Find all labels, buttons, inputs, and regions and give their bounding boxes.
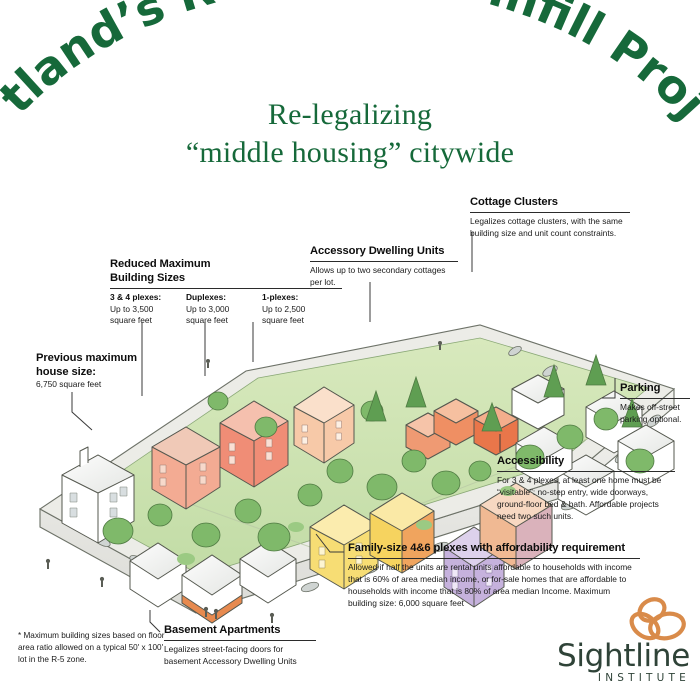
callout-accessory-dwelling-units: Accessory Dwelling Units Allows up to tw… xyxy=(310,245,458,289)
callout-adu-body: Allows up to two secondary cottages per … xyxy=(310,265,458,289)
callout-cottage-clusters-rule xyxy=(470,212,630,213)
callout-adu-rule xyxy=(310,261,458,262)
callout-basement-apartments: Basement Apartments Legalizes street-fac… xyxy=(164,624,316,668)
callout-accessibility-body: For 3 & 4 plexes, at least one home must… xyxy=(497,475,675,523)
callout-parking-rule xyxy=(620,398,690,399)
size-column-1plexes-title: 1-plexes: xyxy=(262,292,328,304)
callout-family-size-heading: Family-size 4&6 plexes with affordabilit… xyxy=(348,542,640,556)
size-column-plexes-line1: Up to 3,500 xyxy=(110,304,176,316)
size-column-duplexes-line1: Up to 3,000 xyxy=(186,304,252,316)
size-column-plexes-line2: square feet xyxy=(110,315,176,327)
callout-family-size-rule xyxy=(348,558,640,559)
size-column-1plexes: 1-plexes: Up to 2,500 square feet xyxy=(262,292,328,327)
size-column-1plexes-line1: Up to 2,500 xyxy=(262,304,328,316)
callout-adu-heading: Accessory Dwelling Units xyxy=(310,245,458,259)
callout-reduced-building-sizes: Reduced Maximum Building Sizes 3 & 4 ple… xyxy=(110,258,342,327)
callout-cottage-clusters-heading: Cottage Clusters xyxy=(470,196,630,210)
size-column-duplexes: Duplexes: Up to 3,000 square feet xyxy=(186,292,252,327)
footnote: * Maximum building sizes based on floor … xyxy=(18,630,166,666)
callout-parking-heading: Parking xyxy=(620,382,690,396)
callout-accessibility-heading: Accessibility xyxy=(497,455,675,469)
callout-basement-heading: Basement Apartments xyxy=(164,624,316,638)
callout-cottage-clusters: Cottage Clusters Legalizes cottage clust… xyxy=(470,196,630,240)
sightline-logo-subtext: INSTITUTE xyxy=(500,672,690,684)
size-column-plexes-title: 3 & 4 plexes: xyxy=(110,292,176,304)
size-column-plexes: 3 & 4 plexes: Up to 3,500 square feet xyxy=(110,292,176,327)
callout-basement-body: Legalizes street-facing doors for baseme… xyxy=(164,644,316,668)
sightline-logo-wordmark: Sightline xyxy=(500,638,690,674)
sightline-logo[interactable]: Sightline INSTITUTE xyxy=(500,600,690,700)
callout-reduced-rule xyxy=(110,288,342,289)
size-column-duplexes-line2: square feet xyxy=(186,315,252,327)
callout-reduced-heading-line2: Building Sizes xyxy=(110,272,185,284)
callout-parking: Parking Makes off-street parking optiona… xyxy=(620,382,690,426)
callout-previous-maximum-body: 6,750 square feet xyxy=(36,379,148,391)
infographic-canvas: Portland’s Residential Infill Project Re… xyxy=(0,0,700,700)
callout-previous-maximum: Previous maximum house size: 6,750 squar… xyxy=(36,352,148,391)
callout-accessibility-rule xyxy=(497,471,675,472)
callout-basement-rule xyxy=(164,640,316,641)
size-column-duplexes-title: Duplexes: xyxy=(186,292,252,304)
callout-previous-maximum-heading-line2: house size: xyxy=(36,366,96,378)
callout-accessibility: Accessibility For 3 & 4 plexes, at least… xyxy=(497,455,675,523)
callout-reduced-heading-line1: Reduced Maximum xyxy=(110,258,210,270)
callout-previous-maximum-heading-line1: Previous maximum xyxy=(36,352,137,364)
callout-cottage-clusters-body: Legalizes cottage clusters, with the sam… xyxy=(470,216,630,240)
size-column-1plexes-line2: square feet xyxy=(262,315,328,327)
sightline-logo-mark-icon xyxy=(500,596,690,642)
callout-parking-body: Makes off-street parking optional. xyxy=(620,402,690,426)
